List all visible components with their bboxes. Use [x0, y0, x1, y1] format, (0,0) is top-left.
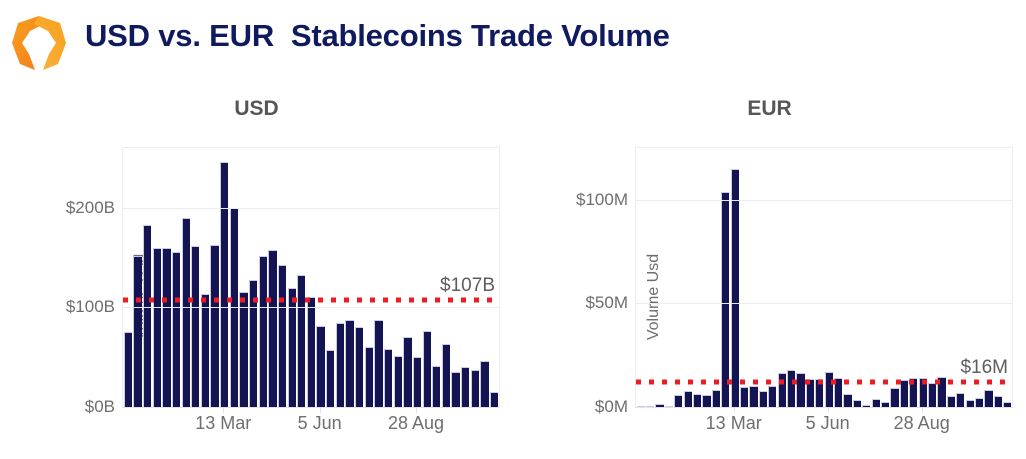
- bar: [124, 332, 132, 407]
- bar: [740, 387, 748, 407]
- bar: [947, 396, 955, 407]
- x-tick-label: 5 Jun: [806, 413, 850, 434]
- bar: [143, 225, 151, 407]
- y-tick-label: $200B: [66, 198, 115, 218]
- bar: [768, 386, 776, 407]
- bar: [890, 388, 898, 407]
- bar: [432, 366, 440, 407]
- bar: [268, 250, 276, 407]
- bar: [490, 392, 498, 407]
- bar: [394, 356, 402, 407]
- bar-series-eur: [636, 148, 1012, 407]
- bar: [451, 372, 459, 407]
- bar: [201, 294, 209, 407]
- reference-line-label-eur: $16M: [960, 357, 1008, 379]
- bar: [239, 292, 247, 407]
- bar: [162, 248, 170, 407]
- y-tick-label: $0B: [85, 397, 115, 417]
- bar: [220, 162, 228, 407]
- x-tick-label: 5 Jun: [298, 413, 342, 434]
- gridline: [123, 307, 499, 308]
- chart-panel-usd: USD Volume Usd $107B $0B$100B$200B 13 Ma…: [0, 85, 513, 459]
- bar: [749, 386, 757, 407]
- bar: [153, 248, 161, 407]
- reference-line-usd: [123, 298, 499, 303]
- gridline: [123, 208, 499, 209]
- plot-area-eur: Volume Usd $16M $0M$50M$100M: [635, 147, 1013, 407]
- x-tick-mark: [320, 407, 321, 413]
- x-tick-label: 28 Aug: [894, 413, 950, 434]
- bar: [693, 394, 701, 407]
- x-tick-label: 28 Aug: [388, 413, 444, 434]
- x-tick-label: 13 Mar: [706, 413, 762, 434]
- bar: [471, 370, 479, 407]
- bar: [787, 370, 795, 407]
- x-tick-label: 13 Mar: [195, 413, 251, 434]
- bar: [172, 252, 180, 407]
- bar: [316, 326, 324, 407]
- bar: [413, 357, 421, 407]
- bar: [712, 390, 720, 407]
- logo-svg: [8, 12, 70, 74]
- bar: [674, 395, 682, 407]
- bar: [365, 347, 373, 407]
- plot-area-usd: Volume Usd $107B $0B$100B$200B: [122, 147, 500, 407]
- y-tick-label: $0M: [595, 397, 628, 417]
- bar: [288, 288, 296, 407]
- bar: [480, 361, 488, 407]
- y-tick-label: $100B: [66, 297, 115, 317]
- bar: [210, 245, 218, 407]
- bar: [994, 396, 1002, 407]
- bar: [984, 390, 992, 407]
- page-header: USD vs. EUR Stablecoins Trade Volume: [0, 0, 1026, 85]
- bar: [975, 398, 983, 407]
- y-tick-label: $100M: [576, 190, 628, 210]
- bar: [796, 373, 804, 407]
- x-axis-eur: [635, 407, 1013, 408]
- bar: [731, 169, 739, 407]
- page-title: USD vs. EUR Stablecoins Trade Volume: [85, 18, 670, 54]
- bar: [278, 265, 286, 407]
- bar: [778, 373, 786, 407]
- bar: [956, 393, 964, 408]
- bar: [355, 327, 363, 407]
- x-tick-mark: [223, 407, 224, 413]
- y-tick-label: $50M: [585, 293, 628, 313]
- bar: [326, 350, 334, 407]
- bar: [182, 218, 190, 407]
- x-tick-mark: [828, 407, 829, 413]
- bar: [259, 256, 267, 407]
- chart-title-eur: EUR: [513, 97, 1026, 121]
- bar: [336, 323, 344, 407]
- gridline: [636, 303, 1012, 304]
- bar: [133, 256, 141, 407]
- bar: [966, 400, 974, 407]
- bar: [461, 367, 469, 407]
- gridline: [636, 200, 1012, 201]
- logo-right-bracket: [34, 16, 66, 70]
- x-axis-usd: [122, 407, 500, 408]
- bar: [928, 383, 936, 407]
- chart-title-usd: USD: [0, 97, 513, 121]
- bar: [307, 297, 315, 407]
- bar: [374, 320, 382, 407]
- bar: [702, 395, 710, 407]
- bar: [423, 331, 431, 407]
- x-tick-mark: [416, 407, 417, 413]
- bar: [843, 394, 851, 407]
- bar: [853, 400, 861, 407]
- bar: [345, 320, 353, 407]
- bar: [684, 391, 692, 407]
- bar: [872, 399, 880, 407]
- bar: [191, 246, 199, 407]
- x-tick-mark: [922, 407, 923, 413]
- bar: [825, 372, 833, 407]
- chart-panel-eur: EUR Volume Usd $16M $0M$50M$100M 13 Mar5…: [513, 85, 1026, 459]
- bar: [403, 337, 411, 407]
- reference-line-eur: [636, 380, 1012, 385]
- bar: [384, 349, 392, 407]
- x-tick-mark: [734, 407, 735, 413]
- bar: [297, 275, 305, 407]
- hexagon-brackets-logo: [8, 12, 70, 74]
- reference-line-label-usd: $107B: [440, 275, 495, 297]
- bar: [442, 344, 450, 407]
- bar: [759, 391, 767, 407]
- bar: [721, 192, 729, 407]
